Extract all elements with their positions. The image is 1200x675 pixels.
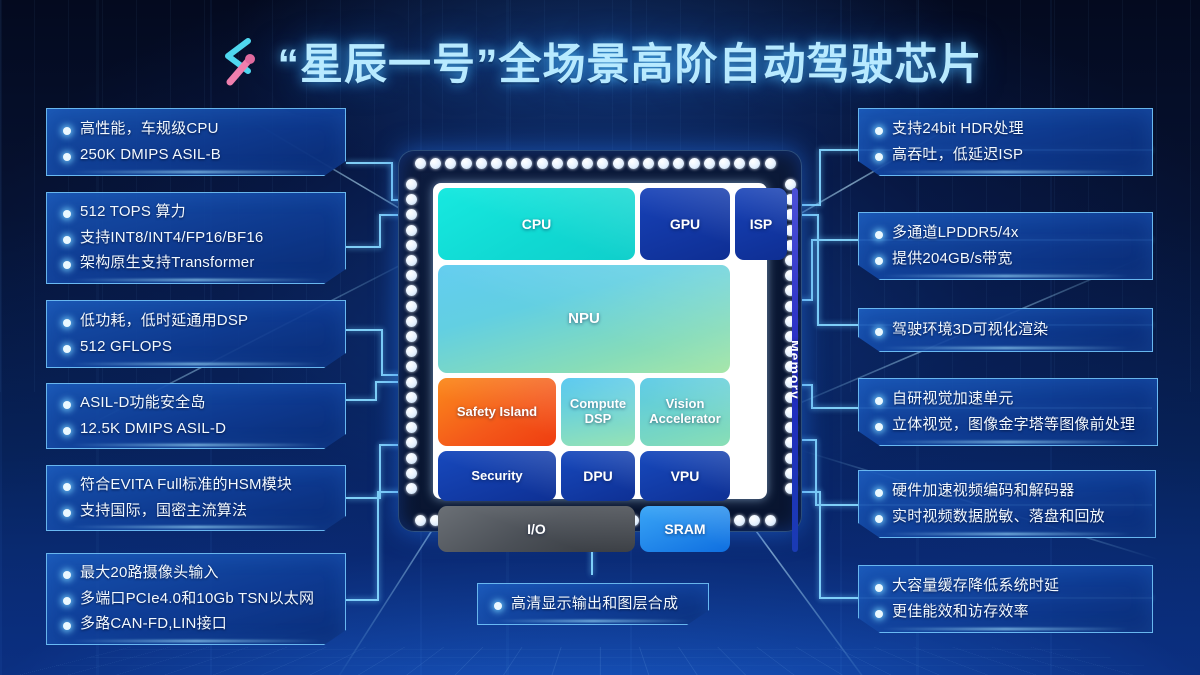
chip-block-io[interactable]: I/O <box>438 506 635 552</box>
chip-pin <box>406 453 417 464</box>
chip-block-cpu[interactable]: CPU <box>438 188 635 260</box>
chip-block-gpu[interactable]: GPU <box>640 188 730 260</box>
chip-block-label: Memory <box>792 340 798 400</box>
chip-block-label: Safety Island <box>457 405 537 420</box>
list-item: 低功耗，低时延通用DSP <box>63 312 331 331</box>
chip-die: CPU GPU ISP Memory NPU Safety Island Com… <box>433 183 767 499</box>
chip-pin <box>734 158 745 169</box>
bottom-card-dpu[interactable]: 高清显示输出和图层合成 <box>477 583 709 625</box>
bullet-dot-icon <box>63 571 71 579</box>
list-item: 符合EVITA Full标准的HSM模块 <box>63 476 331 495</box>
bullet-text: 高性能，车规级CPU <box>80 120 219 139</box>
bullet-text: 支持24bit HDR处理 <box>892 120 1024 139</box>
bullet-dot-icon <box>494 602 502 610</box>
chip-pin <box>476 158 487 169</box>
bullet-dot-icon <box>63 236 71 244</box>
chip-pin <box>415 515 426 526</box>
list-item: 自研视觉加速单元 <box>875 390 1143 409</box>
bullet-dot-icon <box>63 483 71 491</box>
bullet-dot-icon <box>875 584 883 592</box>
chip-pin <box>673 158 684 169</box>
bullet-text: 支持国际，国密主流算法 <box>80 502 247 521</box>
chip-pin <box>658 158 669 169</box>
chip-block-label: Compute DSP <box>564 397 632 427</box>
bullet-text: 250K DMIPS ASIL-B <box>80 146 221 165</box>
bullet-text: 多路CAN-FD,LIN接口 <box>80 615 227 634</box>
list-item: 硬件加速视频编码和解码器 <box>875 482 1141 501</box>
bullet-dot-icon <box>63 345 71 353</box>
chip-block-label: VPU <box>671 468 700 484</box>
chip-pin <box>406 422 417 433</box>
bullet-text: 驾驶环境3D可视化渲染 <box>892 321 1048 340</box>
list-item: 最大20路摄像头输入 <box>63 564 331 583</box>
bullet-dot-icon <box>63 319 71 327</box>
list-item: 支持国际，国密主流算法 <box>63 502 331 521</box>
list-item: 高吞吐，低延迟ISP <box>875 146 1138 165</box>
bullet-text: 多端口PCIe4.0和10Gb TSN以太网 <box>80 590 314 609</box>
chip-pin <box>406 346 417 357</box>
chip-pin <box>643 158 654 169</box>
list-item: 驾驶环境3D可视化渲染 <box>875 321 1138 340</box>
bullet-dot-icon <box>63 427 71 435</box>
chip-block-label: ISP <box>750 216 773 232</box>
list-item: 支持INT8/INT4/FP16/BF16 <box>63 229 331 248</box>
left-card-safety[interactable]: ASIL-D功能安全岛 12.5K DMIPS ASIL-D <box>46 383 346 449</box>
bullet-dot-icon <box>63 509 71 517</box>
left-card-npu[interactable]: 512 TOPS 算力 支持INT8/INT4/FP16/BF16 架构原生支持… <box>46 192 346 284</box>
chip-pin <box>406 225 417 236</box>
chip-package: CPU GPU ISP Memory NPU Safety Island Com… <box>398 150 802 532</box>
bullet-text: 512 TOPS 算力 <box>80 203 186 222</box>
chip-pin <box>406 316 417 327</box>
bullet-dot-icon <box>63 261 71 269</box>
chip-pin <box>406 361 417 372</box>
bullet-text: 符合EVITA Full标准的HSM模块 <box>80 476 292 495</box>
chip-block-compute-dsp[interactable]: Compute DSP <box>561 378 635 446</box>
left-card-io[interactable]: 最大20路摄像头输入 多端口PCIe4.0和10Gb TSN以太网 多路CAN-… <box>46 553 346 645</box>
chip-pin <box>430 158 441 169</box>
bullet-dot-icon <box>63 210 71 218</box>
chip-block-label: GPU <box>670 216 700 232</box>
bullet-text: ASIL-D功能安全岛 <box>80 394 206 413</box>
chip-pin <box>406 377 417 388</box>
list-item: ASIL-D功能安全岛 <box>63 394 331 413</box>
chip-pin <box>406 240 417 251</box>
chip-block-label: SRAM <box>664 521 705 537</box>
chip-block-label: DPU <box>583 468 613 484</box>
chip-pin <box>406 179 417 190</box>
bullet-dot-icon <box>875 423 883 431</box>
chip-pin <box>406 483 417 494</box>
bullet-dot-icon <box>875 489 883 497</box>
chip-pin <box>406 285 417 296</box>
list-item: 512 TOPS 算力 <box>63 203 331 222</box>
chip-pin <box>415 158 426 169</box>
chip-pin <box>749 158 760 169</box>
list-item: 250K DMIPS ASIL-B <box>63 146 331 165</box>
bullet-text: 提供204GB/s带宽 <box>892 250 1013 269</box>
chip-block-label: CPU <box>522 216 552 232</box>
chip-pin <box>491 158 502 169</box>
background-perspective-grid <box>0 646 1200 675</box>
chip-pin <box>765 158 776 169</box>
chip-pin <box>704 158 715 169</box>
chip-pin <box>406 209 417 220</box>
chip-pin <box>506 158 517 169</box>
chip-pin <box>628 158 639 169</box>
bullet-text: 支持INT8/INT4/FP16/BF16 <box>80 229 263 248</box>
list-item: 实时视频数据脱敏、落盘和回放 <box>875 508 1141 527</box>
chip-block-dpu[interactable]: DPU <box>561 451 635 501</box>
bullet-text: 大容量缓存降低系统时延 <box>892 577 1059 596</box>
chip-pin <box>734 515 745 526</box>
chip-pin <box>445 158 456 169</box>
chip-pin <box>552 158 563 169</box>
list-item: 支持24bit HDR处理 <box>875 120 1138 139</box>
bullet-dot-icon <box>63 622 71 630</box>
left-card-security[interactable]: 符合EVITA Full标准的HSM模块 支持国际，国密主流算法 <box>46 465 346 531</box>
list-item: 大容量缓存降低系统时延 <box>875 577 1138 596</box>
list-item: 多端口PCIe4.0和10Gb TSN以太网 <box>63 590 331 609</box>
chip-pin <box>406 407 417 418</box>
chip-pin <box>537 158 548 169</box>
chip-block-security[interactable]: Security <box>438 451 556 501</box>
bullet-text: 立体视觉，图像金字塔等图像前处理 <box>892 416 1135 435</box>
bullet-dot-icon <box>875 397 883 405</box>
bullet-text: 实时视频数据脱敏、落盘和回放 <box>892 508 1105 527</box>
bullet-text: 最大20路摄像头输入 <box>80 564 219 583</box>
chip-pin <box>765 515 776 526</box>
chip-pin <box>613 158 624 169</box>
chip-pin <box>461 158 472 169</box>
list-item: 多通道LPDDR5/4x <box>875 224 1138 243</box>
chip-block-memory[interactable]: Memory <box>792 188 798 552</box>
bullet-dot-icon <box>875 328 883 336</box>
chip-pin <box>719 158 730 169</box>
bullet-text: 更佳能效和访存效率 <box>892 603 1029 622</box>
chip-block-label: Vision Accelerator <box>643 397 727 427</box>
chip-block-label: NPU <box>568 310 600 327</box>
bullet-text: 架构原生支持Transformer <box>80 254 255 273</box>
chip-block-npu[interactable]: NPU <box>438 265 730 373</box>
list-item: 12.5K DMIPS ASIL-D <box>63 420 331 439</box>
chip-pin <box>406 270 417 281</box>
chip-block-label: Security <box>471 469 522 484</box>
list-item: 512 GFLOPS <box>63 338 331 357</box>
bullet-dot-icon <box>63 597 71 605</box>
bullet-text: 高吞吐，低延迟ISP <box>892 146 1023 165</box>
bullet-text: 高清显示输出和图层合成 <box>511 595 678 614</box>
bullet-text: 12.5K DMIPS ASIL-D <box>80 420 226 439</box>
chip-pin <box>406 437 417 448</box>
chip-pin <box>597 158 608 169</box>
chip-block-sram[interactable]: SRAM <box>640 506 730 552</box>
chip-pin <box>406 392 417 403</box>
list-item: 多路CAN-FD,LIN接口 <box>63 615 331 634</box>
bullet-text: 512 GFLOPS <box>80 338 172 357</box>
bullet-dot-icon <box>875 231 883 239</box>
left-card-cpu[interactable]: 高性能，车规级CPU 250K DMIPS ASIL-B <box>46 108 346 176</box>
chevron-logo-icon <box>218 35 264 87</box>
chip-block-safety-island[interactable]: Safety Island <box>438 378 556 446</box>
chip-pin <box>406 468 417 479</box>
right-card-memory[interactable]: 多通道LPDDR5/4x 提供204GB/s带宽 <box>858 212 1153 280</box>
bullet-text: 硬件加速视频编码和解码器 <box>892 482 1074 501</box>
chip-pin <box>749 515 760 526</box>
bullet-dot-icon <box>63 127 71 135</box>
bullet-dot-icon <box>63 401 71 409</box>
chip-pin <box>567 158 578 169</box>
chip-block-vision-accelerator[interactable]: Vision Accelerator <box>640 378 730 446</box>
right-card-sram[interactable]: 大容量缓存降低系统时延 更佳能效和访存效率 <box>858 565 1153 633</box>
chip-pin <box>521 158 532 169</box>
right-card-vision[interactable]: 自研视觉加速单元 立体视觉，图像金字塔等图像前处理 <box>858 378 1158 446</box>
list-item: 架构原生支持Transformer <box>63 254 331 273</box>
list-item: 更佳能效和访存效率 <box>875 603 1138 622</box>
bullet-text: 自研视觉加速单元 <box>892 390 1014 409</box>
chip-pin <box>406 194 417 205</box>
right-card-vpu[interactable]: 硬件加速视频编码和解码器 实时视频数据脱敏、落盘和回放 <box>858 470 1156 538</box>
chip-pin <box>406 331 417 342</box>
chip-pin <box>406 301 417 312</box>
list-item: 高清显示输出和图层合成 <box>494 595 694 614</box>
chip-pin <box>582 158 593 169</box>
bullet-dot-icon <box>875 515 883 523</box>
right-card-gpu[interactable]: 驾驶环境3D可视化渲染 <box>858 308 1153 352</box>
bullet-text: 多通道LPDDR5/4x <box>892 224 1019 243</box>
chip-pin <box>406 255 417 266</box>
bullet-dot-icon <box>875 257 883 265</box>
left-card-dsp[interactable]: 低功耗，低时延通用DSP 512 GFLOPS <box>46 300 346 368</box>
bullet-dot-icon <box>875 127 883 135</box>
list-item: 提供204GB/s带宽 <box>875 250 1138 269</box>
bullet-dot-icon <box>875 610 883 618</box>
page-header: “星辰一号”全场景高阶自动驾驶芯片 <box>0 26 1200 96</box>
chip-pin <box>689 158 700 169</box>
chip-block-isp[interactable]: ISP <box>735 188 787 260</box>
bullet-dot-icon <box>875 153 883 161</box>
list-item: 立体视觉，图像金字塔等图像前处理 <box>875 416 1143 435</box>
bullet-dot-icon <box>63 153 71 161</box>
bullet-text: 低功耗，低时延通用DSP <box>80 312 248 331</box>
chip-block-label: I/O <box>527 521 546 537</box>
list-item: 高性能，车规级CPU <box>63 120 331 139</box>
slide-canvas: “星辰一号”全场景高阶自动驾驶芯片 高性能，车规级CPU 250K DMIPS … <box>0 0 1200 675</box>
page-title: “星辰一号”全场景高阶自动驾驶芯片 <box>278 30 983 92</box>
chip-block-vpu[interactable]: VPU <box>640 451 730 501</box>
right-card-isp[interactable]: 支持24bit HDR处理 高吞吐，低延迟ISP <box>858 108 1153 176</box>
